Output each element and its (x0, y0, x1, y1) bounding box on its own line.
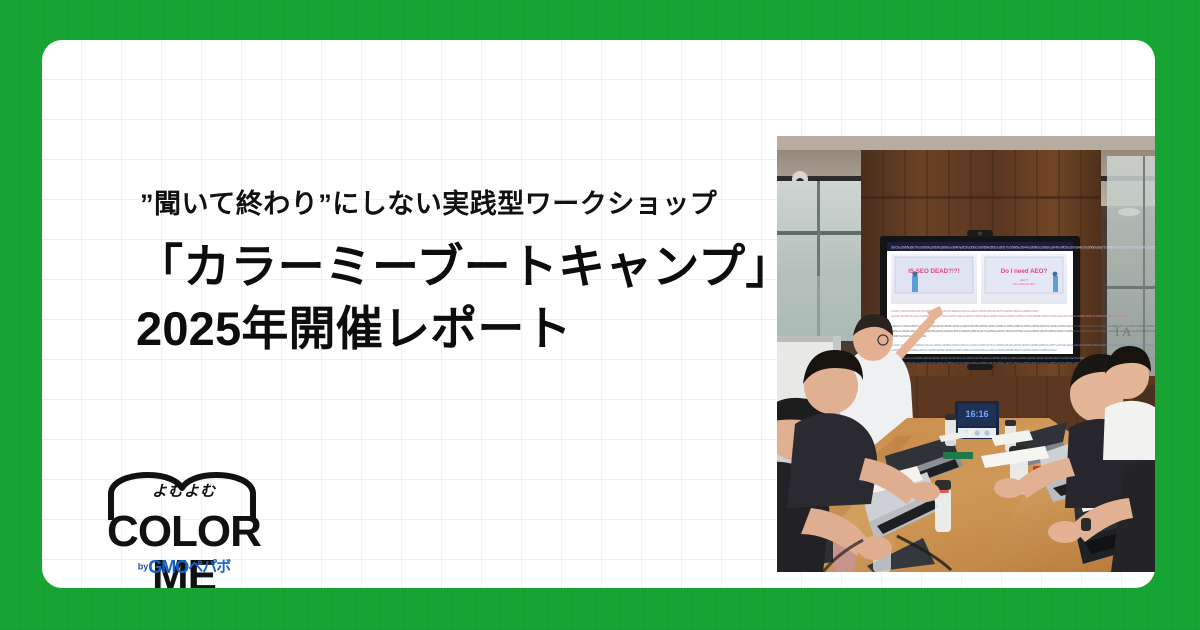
svg-text:Not traditional SEO: Not traditional SEO (1013, 282, 1035, 286)
workshop-photo: I A (777, 136, 1155, 572)
svg-text:\u2022 AI\u6642\u4ee3\u306e\u6: \u2022 AI\u6642\u4ee3\u306e\u691c\u7d22\… (891, 314, 1128, 318)
logo-byline-pepabo: ペパボ (188, 559, 230, 576)
logo-byline-gmo: GMO (148, 557, 188, 577)
content-card: ”聞いて終わり”にしない実践型ワークショップ 「カラーミーブートキャンプ」 20… (42, 40, 1155, 588)
page-title: 「カラーミーブートキャンプ」 2025年開催レポート (136, 236, 776, 360)
logo-byline-prefix: by (138, 562, 149, 572)
card-subtitle: ”聞いて終わり”にしない実践型ワークショップ (140, 188, 760, 220)
colorme-logo: よむよむ COLOR ME byGMOペパボ (90, 472, 300, 577)
svg-text:\u203b Overview\u3084AI Mode\u: \u203b Overview\u3084AI Mode\u306a\u3069… (891, 343, 1155, 347)
page-title-line-2: 2025年開催レポート (136, 298, 776, 360)
svg-text:\u3067\u3088\u308a\u3001\u3088: \u3067\u3088\u308a\u3001\u3088\u308a\u90… (891, 348, 1057, 352)
svg-text:\u30ec\u30d9\u30eb\u306f\u9045: \u30ec\u30d9\u30eb\u306f\u9045\u304f\u30… (891, 329, 1155, 333)
svg-text:\u2022 SEO\u306f\u6b7b\u3093\u: \u2022 SEO\u306f\u6b7b\u3093\u3067\u3044… (891, 309, 1039, 313)
svg-text:Do I need AEO?: Do I need AEO? (1001, 268, 1048, 275)
logo-mark-text: よむよむ (134, 484, 234, 499)
svg-text:SEO\u306f\u6b7b\u3093\u3060\u3: SEO\u306f\u6b7b\u3093\u3060\u306e\u304b\… (891, 245, 1155, 249)
svg-text:AEO?: AEO? (1020, 278, 1028, 282)
svg-text:16:16: 16:16 (965, 409, 988, 419)
page-title-line-1: 「カラーミーブートキャンプ」 (136, 236, 776, 298)
svg-text:AEO/AI\u30d5\u30ed\u30f3\u30c8: AEO/AI\u30d5\u30ed\u30f3\u30c8\u304b\u30… (891, 361, 1099, 365)
logo-byline: byGMOペパボ (90, 558, 278, 576)
ogp-card-root: ”聞いて終わり”にしない実践型ワークショップ 「カラーミーブートキャンプ」 20… (0, 0, 1200, 630)
